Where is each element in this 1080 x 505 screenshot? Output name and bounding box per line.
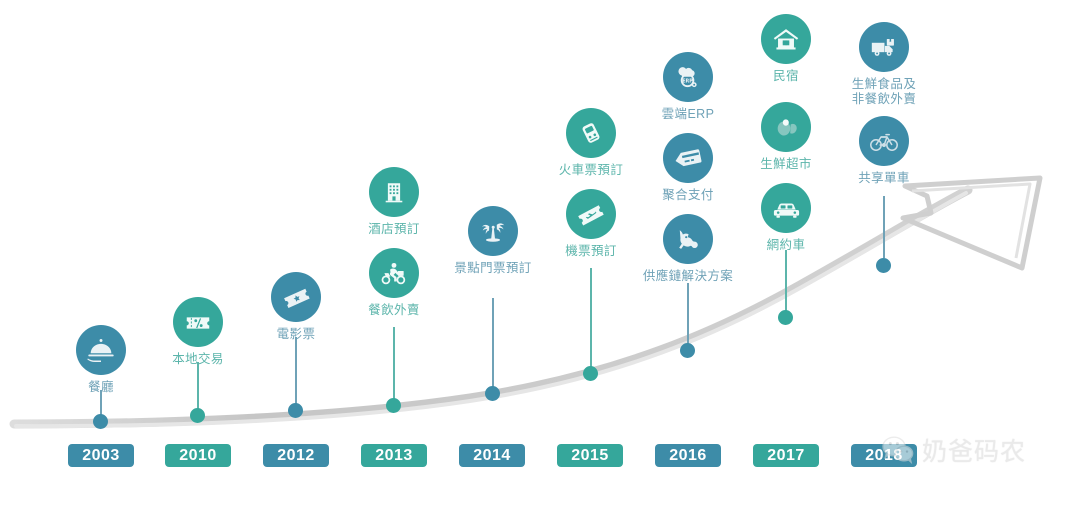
timeline-dot[interactable] <box>386 398 401 413</box>
timeline-infographic: 餐廳 <box>0 0 1080 505</box>
milestone-label: 生鮮超市 <box>760 157 812 172</box>
milestone-item[interactable]: 生鮮食品及 非餐飲外賣 <box>824 22 944 107</box>
milestone-item[interactable]: 餐廳 <box>76 325 126 395</box>
timeline-dot[interactable] <box>93 414 108 429</box>
watermark: 奶爸码农 <box>880 432 1026 468</box>
discount-ticket-icon <box>173 297 223 347</box>
cloud-erp-icon: ERP <box>663 52 713 102</box>
cloche-icon <box>76 325 126 375</box>
milestone-item[interactable]: 民宿 <box>761 14 811 84</box>
timeline-dot[interactable] <box>680 343 695 358</box>
timeline-dot[interactable] <box>190 408 205 423</box>
delivery-truck-icon <box>859 22 909 72</box>
milestone-item[interactable]: 機票預訂 <box>565 189 617 259</box>
year-pill-2014[interactable]: 2014 <box>459 444 525 467</box>
connector-stem <box>590 268 592 370</box>
delivery-scooter-icon <box>369 248 419 298</box>
connector-stem <box>687 283 689 348</box>
fresh-grocery-icon <box>761 102 811 152</box>
connector-stem <box>197 362 199 412</box>
milestone-item[interactable]: 生鮮超市 <box>760 102 812 172</box>
credit-card-icon <box>663 133 713 183</box>
milestone-label: 聚合支付 <box>662 188 714 203</box>
milestone-item[interactable]: 酒店預訂 <box>368 167 420 237</box>
year-pill-2010[interactable]: 2010 <box>165 444 231 467</box>
milestone-item[interactable]: 共享單車 <box>858 116 910 186</box>
car-icon <box>761 183 811 233</box>
donkey-icon <box>663 214 713 264</box>
year-pill-2003[interactable]: 2003 <box>68 444 134 467</box>
milestone-item[interactable]: ERP 雲端ERP <box>662 52 715 122</box>
year-pill-2015[interactable]: 2015 <box>557 444 623 467</box>
milestone-column-2018: 生鮮食品及 非餐飲外賣 共享單車 <box>809 0 959 505</box>
svg-text:ERP: ERP <box>682 78 693 84</box>
year-pill-2013[interactable]: 2013 <box>361 444 427 467</box>
connector-stem <box>393 327 395 402</box>
train-ticket-icon <box>566 108 616 158</box>
milestone-label: 共享單車 <box>858 171 910 186</box>
year-pill-2012[interactable]: 2012 <box>263 444 329 467</box>
wechat-icon <box>880 432 916 468</box>
movie-ticket-icon <box>271 272 321 322</box>
timeline-dot[interactable] <box>778 310 793 325</box>
milestone-label: 餐飲外賣 <box>368 303 420 318</box>
hotel-building-icon <box>369 167 419 217</box>
year-pill-2017[interactable]: 2017 <box>753 444 819 467</box>
house-icon <box>761 14 811 64</box>
bicycle-icon <box>859 116 909 166</box>
milestone-label: 酒店預訂 <box>368 222 420 237</box>
timeline-dot[interactable] <box>876 258 891 273</box>
connector-stem <box>492 298 494 390</box>
year-pill-2016[interactable]: 2016 <box>655 444 721 467</box>
milestone-item[interactable]: 餐飲外賣 <box>368 248 420 318</box>
timeline-dot[interactable] <box>288 403 303 418</box>
connector-stem <box>785 250 787 315</box>
milestone-item[interactable]: 網約車 <box>761 183 811 253</box>
milestone-item[interactable]: 本地交易 <box>172 297 224 367</box>
milestone-label: 雲端ERP <box>662 107 715 122</box>
palm-tree-icon <box>468 206 518 256</box>
milestone-label: 民宿 <box>773 69 799 84</box>
plane-ticket-icon <box>566 189 616 239</box>
milestone-label: 機票預訂 <box>565 244 617 259</box>
watermark-text: 奶爸码农 <box>922 432 1026 468</box>
timeline-dot[interactable] <box>583 366 598 381</box>
connector-stem <box>883 196 885 258</box>
milestone-item[interactable]: 電影票 <box>271 272 321 342</box>
milestone-item[interactable]: 聚合支付 <box>662 133 714 203</box>
milestone-label: 生鮮食品及 非餐飲外賣 <box>824 77 944 107</box>
timeline-dot[interactable] <box>485 386 500 401</box>
connector-stem <box>295 337 297 407</box>
